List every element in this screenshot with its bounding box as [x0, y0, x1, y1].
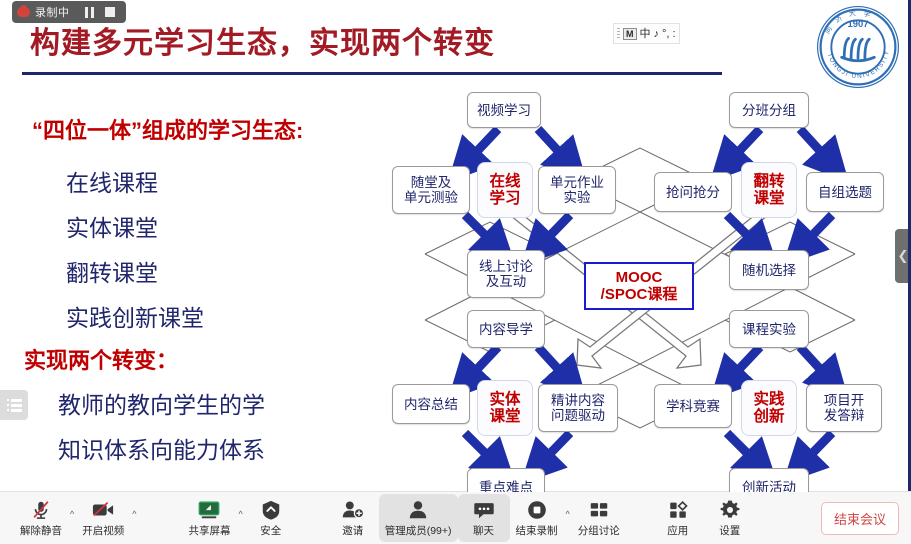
thumbnail-panel-handle[interactable]	[0, 390, 28, 420]
pause-recording-button[interactable]	[79, 1, 100, 23]
sub-bullet-item-1: 教师的教向学生的学	[58, 386, 265, 420]
diagram-node-a-top[interactable]: 视频学习	[467, 92, 541, 128]
toolbar-button-participants[interactable]: 管理成员(99+)	[379, 494, 458, 542]
diagram-node-c-bottom[interactable]: 重点难点	[467, 468, 545, 492]
presentation-stage: 录制中 构建多元学习生态，实现两个转变 M 中 ♪ °, : 1907 同 济 …	[0, 0, 911, 492]
toolbar-button-stop-record[interactable]: 结束录制	[510, 494, 564, 542]
toolbar-button-breakout-rooms[interactable]: 分组讨论	[572, 494, 626, 542]
toolbar-button-share-screen[interactable]: 共享屏幕	[182, 494, 236, 542]
university-seal-logo: 1907 同 济 大 学 TONGJI UNIVERSITY	[815, 4, 901, 90]
invite-user-icon	[341, 499, 365, 521]
recording-indicator: 录制中	[12, 1, 126, 23]
toolbar-label-settings: 设置	[719, 523, 740, 538]
stop-record-icon	[526, 499, 548, 521]
toolbar-button-invite[interactable]: 邀请	[327, 494, 379, 542]
diagram-node-b-bottom[interactable]: 随机选择	[729, 250, 809, 290]
ime-punctuation-toggle[interactable]: °,	[662, 28, 669, 40]
diagram-node-a-right[interactable]: 单元作业 实验	[538, 166, 616, 214]
diagram-node-d-top[interactable]: 课程实验	[729, 310, 809, 348]
diagram-hub-physical-classroom[interactable]: 实体 课堂	[477, 380, 533, 436]
diagram-node-d-bottom[interactable]: 创新活动	[729, 468, 809, 492]
diagram-hub-practice-innovation[interactable]: 实践 创新	[741, 380, 797, 436]
diagram-node-c-top[interactable]: 内容导学	[467, 310, 545, 348]
toolbar-label-participants: 管理成员(99+)	[385, 523, 452, 538]
sub-bullet-item-2: 知识体系向能力体系	[58, 431, 265, 465]
share-screen-icon	[197, 499, 221, 521]
gear-icon	[719, 499, 741, 521]
microphone-muted-icon	[30, 499, 52, 521]
ime-grip-icon[interactable]	[617, 28, 620, 40]
participants-icon	[406, 499, 430, 521]
share-options-caret-icon[interactable]: ^	[236, 509, 244, 519]
toolbar-label-invite: 邀请	[342, 523, 363, 538]
diagram-node-d-left[interactable]: 学科竞赛	[654, 384, 732, 428]
toolbar-label-breakout-rooms: 分组讨论	[578, 523, 620, 538]
video-options-caret-icon[interactable]: ^	[130, 509, 138, 519]
diagram-hub-flipped-classroom[interactable]: 翻转 课堂	[741, 162, 797, 218]
diagram-node-c-left[interactable]: 内容总结	[392, 384, 470, 424]
toolbar-button-apps[interactable]: 应用	[652, 494, 704, 542]
bullet-item-3: 翻转课堂	[66, 254, 158, 288]
slide-title: 构建多元学习生态，实现两个转变	[30, 18, 495, 62]
ime-tone-icon[interactable]: ♪	[654, 28, 660, 40]
security-shield-icon	[260, 499, 282, 521]
chat-bubble-icon	[472, 499, 496, 521]
recording-dot-icon	[17, 7, 30, 17]
toolbar-button-chat[interactable]: 聊天	[458, 494, 510, 542]
svg-text:1907: 1907	[847, 19, 868, 30]
ime-language-bar[interactable]: M 中 ♪ °, :	[613, 23, 680, 44]
toolbar-label-unmute: 解除静音	[20, 523, 62, 538]
toolbar-button-settings[interactable]: 设置	[704, 494, 756, 542]
toolbar-label-start-video: 开启视频	[82, 523, 124, 538]
meeting-toolbar: 解除静音 ^ 开启视频 ^ 共享屏幕 ^	[0, 491, 911, 544]
diagram-center-mooc-spoc[interactable]: MOOC /SPOC课程	[584, 262, 694, 310]
bullet-item-4: 实践创新课堂	[66, 299, 204, 333]
apps-icon	[666, 499, 690, 521]
list-icon	[7, 399, 22, 412]
ime-menu-icon[interactable]: :	[672, 28, 675, 40]
toolbar-label-apps: 应用	[667, 523, 688, 538]
recording-label: 录制中	[35, 4, 70, 20]
toolbar-button-start-video[interactable]: 开启视频	[76, 494, 130, 542]
record-options-caret-icon[interactable]: ^	[564, 509, 572, 519]
bullet-item-2: 实体课堂	[66, 209, 158, 243]
toolbar-label-security: 安全	[260, 523, 281, 538]
ime-language-toggle[interactable]: 中	[640, 28, 651, 40]
camera-muted-icon	[91, 499, 115, 521]
breakout-rooms-icon	[587, 499, 611, 521]
stop-recording-button[interactable]	[100, 1, 121, 23]
toolbar-button-unmute[interactable]: 解除静音	[14, 494, 68, 542]
toolbar-label-chat: 聊天	[473, 523, 494, 538]
diagram-node-a-left[interactable]: 随堂及 单元测验	[392, 166, 470, 214]
diagram-node-b-left[interactable]: 抢问抢分	[654, 172, 732, 212]
toolbar-label-share-screen: 共享屏幕	[188, 523, 230, 538]
end-meeting-button[interactable]: 结束会议	[821, 502, 899, 535]
title-underline	[22, 72, 722, 75]
diagram-node-b-right[interactable]: 自组选题	[806, 172, 884, 212]
audio-options-caret-icon[interactable]: ^	[68, 509, 76, 519]
left-subheading: 实现两个转变：	[24, 343, 178, 375]
bullet-item-1: 在线课程	[66, 164, 158, 198]
left-heading: “四位一体”组成的学习生态:	[32, 113, 303, 145]
diagram-node-a-bottom[interactable]: 线上讨论 及互动	[467, 250, 545, 298]
diagram-node-d-right[interactable]: 项目开 发答辩	[806, 384, 882, 432]
toolbar-button-security[interactable]: 安全	[245, 494, 297, 542]
diagram-hub-online-learning[interactable]: 在线 学习	[477, 162, 533, 218]
toolbar-label-stop-record: 结束录制	[516, 523, 558, 538]
diagram-node-c-right[interactable]: 精讲内容 问题驱动	[538, 384, 618, 432]
ime-mode-badge[interactable]: M	[623, 28, 637, 40]
diagram-node-b-top[interactable]: 分班分组	[729, 92, 809, 128]
four-in-one-diagram: 视频学习 随堂及 单元测验 单元作业 实验 线上讨论 及互动 在线 学习 分班分…	[370, 82, 911, 492]
